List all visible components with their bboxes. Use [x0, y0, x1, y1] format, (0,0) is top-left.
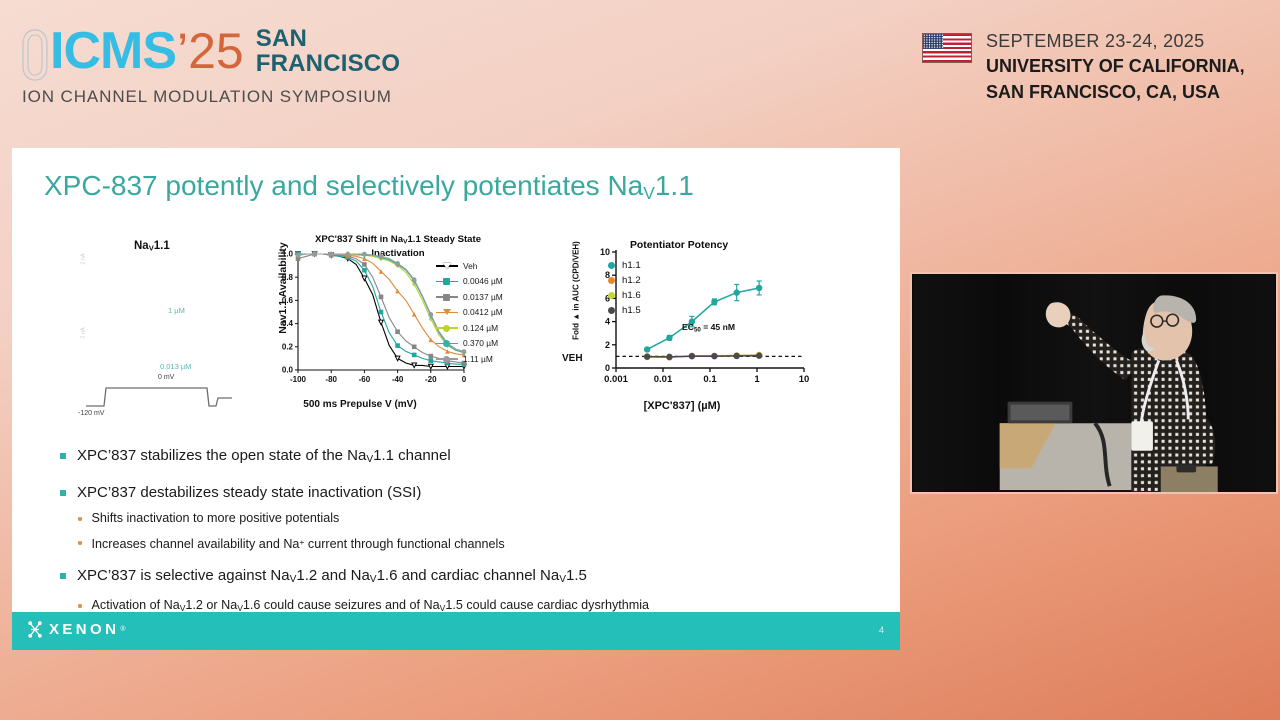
bullet-level2: Increases channel availability and Na+ c… [78, 534, 870, 553]
ssi-legend-item: Veh [436, 258, 503, 274]
left-title-main: Na [134, 240, 149, 252]
potency-legend-dot-icon [608, 277, 615, 284]
bullet-text: XPC’837 stabilizes the open state of the… [77, 446, 451, 470]
bullet-text: Increases channel availability and Na+ c… [92, 534, 505, 553]
svg-text:2: 2 [605, 340, 610, 350]
ssi-legend-marker-icon [436, 292, 458, 302]
icms-city-line2: FRANCISCO [256, 51, 400, 76]
figure-current-traces: NaV1.1 2 nA 2 nA 1 µM 0.013 µM 0 mV -120… [72, 234, 247, 434]
slide-footer-bar: XENON ® 4 [12, 612, 900, 650]
bullet-square-icon [60, 573, 66, 579]
ec50-annotation: EC50 = 45 nM [682, 322, 735, 333]
bullet-square-icon [60, 453, 66, 459]
xenon-wordmark: XENON [49, 621, 119, 638]
ssi-legend-marker-icon [436, 261, 458, 271]
bullet-dot-icon [78, 541, 82, 545]
trace-conc-label-2: 0.013 µM [160, 362, 191, 371]
legend-marker [443, 263, 451, 269]
ssi-legend-item: 0.0412 µM [436, 305, 503, 321]
legend-marker [443, 325, 450, 332]
ssi-title-main: XPC'837 Shift in Na [315, 234, 403, 245]
icms-tagline: ION CHANNEL MODULATION SYMPOSIUM [22, 87, 392, 107]
icms-city-line1: SAN [256, 26, 400, 51]
potency-legend-dot-icon [608, 262, 615, 269]
svg-text:10: 10 [799, 374, 810, 385]
icms-year: ’25 [177, 24, 244, 78]
svg-text:0.2: 0.2 [282, 342, 294, 351]
ec50-value: 45 nM [711, 322, 735, 332]
ssi-legend-marker-icon [436, 307, 458, 317]
legend-marker [443, 309, 451, 315]
bullet-dot-icon [78, 604, 82, 608]
event-venue-line2: SAN FRANCISCO, CA, USA [986, 81, 1245, 104]
bullet-text: Shifts inactivation to more positive pot… [92, 510, 340, 527]
legend-marker [443, 356, 450, 363]
svg-text:0: 0 [462, 375, 467, 384]
slide-title-main: XPC-837 potently and selectively potenti… [44, 170, 643, 201]
svg-text:-20: -20 [425, 375, 437, 384]
legend-marker [443, 294, 450, 301]
ec50-subscript: 50 [694, 326, 701, 333]
ssi-legend-item: 0.0046 µM [436, 274, 503, 290]
ssi-legend-marker-icon [436, 338, 458, 348]
figure-ssi-chart: XPC'837 Shift in NaV1.1 Steady State Ina… [250, 234, 540, 434]
scale-bar-label-1: 2 nA [81, 253, 87, 264]
svg-text:1.0: 1.0 [282, 250, 294, 259]
figure-potency-chart: Potentiator Potency Fold ▲ in AUC (CPD/V… [564, 234, 814, 434]
protocol-hold-label: -120 mV [78, 410, 104, 417]
potency-legend-item: h1.6 [608, 288, 641, 303]
svg-text:4: 4 [605, 317, 610, 327]
voltage-protocol-trace [84, 378, 234, 414]
ssi-legend-item: 0.370 µM [436, 336, 503, 352]
potency-legend-item: h1.2 [608, 273, 641, 288]
svg-text:0: 0 [605, 363, 610, 373]
ssi-x-axis-label: 500 ms Prepulse V (mV) [260, 399, 460, 410]
svg-text:0.4: 0.4 [282, 319, 294, 328]
svg-text:0.6: 0.6 [282, 296, 294, 305]
svg-text:-100: -100 [290, 375, 307, 384]
ssi-legend-item: 0.124 µM [436, 320, 503, 336]
ssi-legend-marker-icon [436, 323, 458, 333]
presentation-slide: XPC-837 potently and selectively potenti… [12, 148, 900, 612]
potency-legend-dot-icon [608, 292, 615, 299]
speaker-video-panel[interactable] [910, 272, 1278, 494]
header-event-info: SEPTEMBER 23-24, 2025 UNIVERSITY OF CALI… [922, 30, 1245, 104]
event-venue-line1: UNIVERSITY OF CALIFORNIA, [986, 55, 1245, 78]
svg-text:0.8: 0.8 [282, 273, 294, 282]
xenon-logo: XENON ® [28, 621, 126, 638]
ssi-legend: Veh0.0046 µM0.0137 µM0.0412 µM0.124 µM0.… [436, 258, 503, 367]
bullet-level1: XPC’837 destabilizes steady state inacti… [60, 483, 870, 503]
left-panel-title: NaV1.1 [134, 240, 170, 253]
potency-x-axis-label: [XPC'837] (µM) [582, 400, 782, 412]
ssi-title-tail: 1.1 Steady State [407, 234, 481, 245]
trace-conc-label-1: 1 µM [168, 306, 185, 315]
slide-title-sub: V [643, 183, 655, 203]
svg-text:1: 1 [754, 374, 760, 385]
speaker-video-frame [912, 274, 1276, 492]
protocol-step-label: 0 mV [158, 374, 174, 381]
xenon-mark-icon [28, 621, 42, 638]
svg-text:0.01: 0.01 [654, 374, 673, 385]
icms-logo: ICMS ’25 SAN FRANCISCO [20, 24, 400, 82]
potency-legend-label: h1.6 [622, 290, 641, 301]
bullet-dot-icon [78, 517, 82, 521]
svg-text:10: 10 [600, 247, 610, 257]
bullet-level1: XPC’837 stabilizes the open state of the… [60, 446, 870, 470]
ssi-legend-label: 0.0046 µM [463, 276, 503, 286]
ssi-legend-label: 0.0412 µM [463, 307, 503, 317]
legend-marker [443, 278, 450, 285]
slide-title: XPC-837 potently and selectively potenti… [44, 170, 694, 204]
potency-legend-dot-icon [608, 307, 615, 314]
bullet-text: XPC’837 is selective against NaV1.2 and … [77, 566, 587, 590]
potency-y-axis-label: Fold ▲ in AUC (CPD/VEH) [572, 231, 581, 351]
icms-brand: ICMS [50, 24, 176, 78]
slide-title-tail: 1.1 [655, 170, 694, 201]
potency-legend-item: h1.1 [608, 258, 641, 273]
left-title-tail: 1.1 [154, 240, 170, 252]
event-date: SEPTEMBER 23-24, 2025 [986, 30, 1245, 52]
registered-mark: ® [120, 626, 125, 633]
ssi-legend-label: 0.124 µM [463, 323, 498, 333]
bullet-level2: Shifts inactivation to more positive pot… [78, 510, 870, 527]
flag-canton [923, 34, 943, 49]
ssi-legend-label: Veh [463, 261, 477, 271]
slide-page-number: 4 [879, 625, 884, 635]
slide-bullet-list: XPC’837 stabilizes the open state of the… [60, 446, 870, 617]
ssi-legend-item: 0.0137 µM [436, 289, 503, 305]
svg-text:0.0: 0.0 [282, 366, 294, 375]
legend-marker [443, 340, 450, 347]
svg-text:0.1: 0.1 [703, 374, 717, 385]
potency-legend-label: h1.1 [622, 260, 641, 271]
ssi-legend-item: 1.11 µM [436, 351, 503, 367]
ssi-legend-marker-icon [436, 276, 458, 286]
svg-text:-80: -80 [325, 375, 337, 384]
bullet-text: XPC’837 destabilizes steady state inacti… [77, 483, 421, 503]
cell-outline-icon [20, 28, 50, 82]
ssi-legend-label: 0.370 µM [463, 338, 498, 348]
ssi-legend-label: 1.11 µM [463, 354, 493, 364]
svg-text:0.001: 0.001 [604, 374, 628, 385]
bullet-square-icon [60, 490, 66, 496]
svg-text:-60: -60 [359, 375, 371, 384]
svg-text:-40: -40 [392, 375, 404, 384]
potency-legend-label: h1.5 [622, 305, 641, 316]
potency-legend-item: h1.5 [608, 303, 641, 318]
figure-row: NaV1.1 2 nA 2 nA 1 µM 0.013 µM 0 mV -120… [12, 234, 900, 434]
bullet-level1: XPC’837 is selective against NaV1.2 and … [60, 566, 870, 590]
ssi-legend-marker-icon [436, 354, 458, 364]
us-flag-icon [922, 33, 972, 63]
potency-legend-label: h1.2 [622, 275, 641, 286]
page-header: ICMS ’25 SAN FRANCISCO ION CHANNEL MODUL… [0, 0, 1280, 140]
ssi-legend-label: 0.0137 µM [463, 292, 503, 302]
veh-baseline-label: VEH [562, 353, 583, 364]
potency-legend: h1.1h1.2h1.6h1.5 [608, 258, 641, 318]
scale-bar-label-2: 2 nA [81, 327, 87, 338]
header-text-block: SEPTEMBER 23-24, 2025 UNIVERSITY OF CALI… [986, 30, 1245, 104]
icms-city: SAN FRANCISCO [256, 26, 400, 76]
